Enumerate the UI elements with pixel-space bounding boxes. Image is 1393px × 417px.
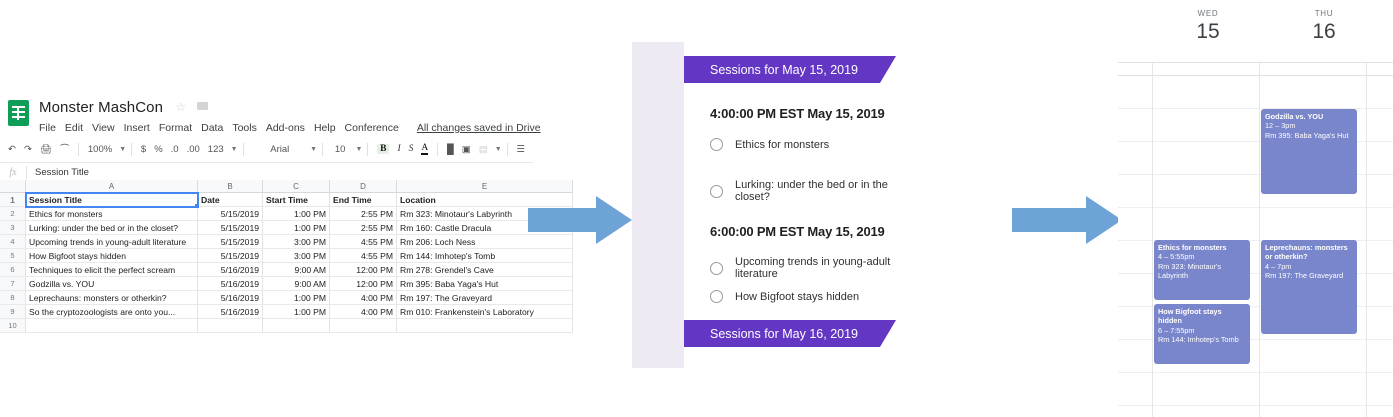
cell-start[interactable]: 3:00 PM [263, 249, 330, 263]
menu-bar: File Edit View Insert Format Data Tools … [39, 122, 550, 134]
horizontal-align-icon[interactable]: ☰ [516, 144, 525, 155]
google-calendar-panel: WED 15 THU 16 Godzilla vs. YOU 12 – 3pm … [1118, 0, 1393, 417]
sheets-toolbar: ↶ ↷ 🖨 ⏜ 100% ▼ $ % .0 .00 123 ▼ Arial ▼ … [4, 138, 529, 160]
calendar-event-godzilla[interactable]: Godzilla vs. YOU 12 – 3pm Rm 395: Baba Y… [1261, 109, 1357, 194]
zoom-level[interactable]: 100% [88, 144, 112, 155]
document-title-row: Monster MashCon ☆ [39, 98, 550, 117]
increase-decimal-button[interactable]: .00 [187, 144, 200, 155]
row-number[interactable]: 5 [0, 249, 26, 263]
cell-date[interactable]: 5/16/2019 [198, 277, 263, 291]
event-location: Rm 323: Minotaur's Labyrinth [1158, 262, 1246, 281]
table-row: 2 Ethics for monsters 5/15/2019 1:00 PM … [0, 207, 573, 221]
fill-color-icon[interactable]: █ [447, 144, 454, 155]
menu-item-data[interactable]: Data [201, 122, 223, 134]
cell-title[interactable]: Lurking: under the bed or in the closet? [26, 221, 198, 235]
cell-date[interactable]: 5/15/2019 [198, 221, 263, 235]
star-icon[interactable]: ☆ [176, 100, 187, 114]
day-number-label: 15 [1160, 20, 1256, 44]
form-body: Sessions for May 15, 2019 4:00:00 PM EST… [684, 42, 922, 368]
cell-date[interactable]: 5/16/2019 [198, 291, 263, 305]
corner-select-all[interactable] [0, 180, 26, 193]
calendar-hour-line [1118, 207, 1393, 208]
zoom-chevron-down-icon[interactable]: ▼ [119, 146, 126, 153]
table-row: 8 Leprechauns: monsters or otherkin? 5/1… [0, 291, 573, 305]
cell-title[interactable]: Upcoming trends in young-adult literatur… [26, 235, 198, 249]
cell-location[interactable]: Rm 010: Frankenstein's Laboratory [397, 305, 573, 319]
radio-button-icon[interactable] [710, 185, 723, 198]
text-color-button[interactable]: A [421, 143, 428, 155]
event-time: 6 – 7:55pm [1158, 326, 1246, 335]
banner-label: Sessions for May 16, 2019 [710, 327, 858, 341]
cell-start[interactable]: 9:00 AM [263, 263, 330, 277]
toolbar-divider [367, 143, 368, 156]
menu-item-edit[interactable]: Edit [65, 122, 83, 134]
menu-item-format[interactable]: Format [159, 122, 192, 134]
flow-arrow-2 [1012, 196, 1122, 244]
event-time: 12 – 3pm [1265, 121, 1353, 130]
row-number[interactable]: 7 [0, 277, 26, 291]
cell-d1[interactable]: End Time [330, 193, 397, 207]
toolbar-divider [507, 143, 508, 156]
strikethrough-button[interactable]: S [409, 144, 414, 154]
form-section-banner-may-15: Sessions for May 15, 2019 [684, 56, 880, 83]
table-row: 3 Lurking: under the bed or in the close… [0, 221, 573, 235]
calendar-column-divider [1259, 62, 1260, 417]
event-title: Godzilla vs. YOU [1265, 112, 1353, 121]
row-number[interactable]: 1 [0, 193, 26, 207]
merge-cells-icon[interactable]: ▤ [479, 144, 488, 155]
form-option-4[interactable]: How Bigfoot stays hidden [710, 290, 859, 303]
undo-icon[interactable]: ↶ [8, 144, 16, 155]
day-of-week-label: THU [1276, 9, 1372, 18]
calendar-event-bigfoot[interactable]: How Bigfoot stays hidden 6 – 7:55pm Rm 1… [1154, 304, 1250, 364]
google-sheets-icon [8, 100, 29, 126]
cell-date[interactable]: 5/16/2019 [198, 263, 263, 277]
cell-a1[interactable]: Session Title [26, 193, 198, 207]
event-title: How Bigfoot stays hidden [1158, 307, 1246, 326]
menu-item-tools[interactable]: Tools [232, 122, 257, 134]
calendar-column-divider [1152, 62, 1153, 417]
italic-button[interactable]: I [397, 144, 400, 154]
column-header-c[interactable]: C [263, 180, 330, 193]
redo-icon[interactable]: ↷ [24, 144, 32, 155]
cell-start[interactable]: 1:00 PM [263, 207, 330, 221]
cell-date[interactable]: 5/16/2019 [198, 305, 263, 319]
table-row: 5 How Bigfoot stays hidden 5/15/2019 3:0… [0, 249, 573, 263]
form-side-strip [632, 42, 684, 368]
calendar-day-wed[interactable]: WED 15 [1160, 9, 1256, 44]
menu-item-view[interactable]: View [92, 122, 115, 134]
form-option-3[interactable]: Upcoming trends in young-adult literatur… [710, 256, 922, 280]
percent-format-button[interactable]: % [154, 144, 162, 155]
cell-date[interactable] [198, 319, 263, 333]
radio-button-icon[interactable] [710, 138, 723, 151]
column-header-row: A B C D E [0, 180, 573, 193]
cell-end[interactable]: 4:00 PM [330, 291, 397, 305]
cell-end[interactable]: 12:00 PM [330, 263, 397, 277]
cell-date[interactable]: 5/15/2019 [198, 207, 263, 221]
cell-location[interactable]: Rm 144: Imhotep's Tomb [397, 249, 573, 263]
cell-title[interactable]: How Bigfoot stays hidden [26, 249, 198, 263]
folder-icon[interactable] [197, 102, 208, 110]
cell-location[interactable] [397, 319, 573, 333]
table-row: 7 Godzilla vs. YOU 5/16/2019 9:00 AM 12:… [0, 277, 573, 291]
cell-end[interactable]: 2:55 PM [330, 207, 397, 221]
toolbar-divider [437, 143, 438, 156]
table-row: 10 [0, 319, 573, 333]
form-option-label: Ethics for monsters [735, 139, 829, 151]
column-header-d[interactable]: D [330, 180, 397, 193]
radio-button-icon[interactable] [710, 262, 723, 275]
row-number[interactable]: 9 [0, 305, 26, 319]
cell-title[interactable]: Ethics for monsters [26, 207, 198, 221]
cell-start[interactable]: 9:00 AM [263, 277, 330, 291]
form-option-label: How Bigfoot stays hidden [735, 291, 859, 303]
cell-location[interactable]: Rm 278: Grendel's Cave [397, 263, 573, 277]
calendar-event-ethics[interactable]: Ethics for monsters 4 – 5:55pm Rm 323: M… [1154, 240, 1250, 300]
cell-title[interactable]: So the cryptozoologists are onto you... [26, 305, 198, 319]
event-time: 4 – 5:55pm [1158, 252, 1246, 261]
cell-title[interactable]: Leprechauns: monsters or otherkin? [26, 291, 198, 305]
column-header-e[interactable]: E [397, 180, 573, 193]
calendar-column-divider [1366, 62, 1367, 417]
event-location: Rm 395: Baba Yaga's Hut [1265, 131, 1353, 140]
form-option-label: Upcoming trends in young-adult literatur… [735, 256, 922, 280]
bold-button[interactable]: B [377, 144, 389, 154]
title-icons: ☆ [176, 98, 208, 116]
calendar-hour-line [1118, 405, 1393, 406]
formula-input[interactable]: Session Title [27, 167, 89, 178]
google-form-panel: Sessions for May 15, 2019 4:00:00 PM EST… [632, 42, 922, 368]
form-option-1[interactable]: Ethics for monsters [710, 138, 829, 151]
google-sheets-panel: Monster MashCon ☆ File Edit View Insert … [0, 94, 533, 320]
form-question-time-1: 4:00:00 PM EST May 15, 2019 [710, 106, 885, 121]
print-icon[interactable]: 🖨 [40, 144, 52, 155]
day-of-week-label: WED [1160, 9, 1256, 18]
column-header-a[interactable]: A [26, 180, 198, 193]
cell-end[interactable] [330, 319, 397, 333]
event-location: Rm 197: The Graveyard [1265, 271, 1353, 280]
cell-start[interactable]: 1:00 PM [263, 221, 330, 235]
cell-b1[interactable]: Date [198, 193, 263, 207]
form-option-2[interactable]: Lurking: under the bed or in the closet? [710, 179, 922, 203]
day-number-label: 16 [1276, 20, 1372, 44]
row-number[interactable]: 3 [0, 221, 26, 235]
paint-format-icon[interactable]: ⏜ [60, 144, 69, 155]
save-status-link[interactable]: All changes saved in Drive [417, 122, 541, 134]
cell-location[interactable]: Rm 395: Baba Yaga's Hut [397, 277, 573, 291]
menu-item-insert[interactable]: Insert [124, 122, 150, 134]
more-formats-button[interactable]: 123 [208, 144, 224, 155]
table-row: 4 Upcoming trends in young-adult literat… [0, 235, 573, 249]
cell-title[interactable] [26, 319, 198, 333]
banner-label: Sessions for May 15, 2019 [710, 63, 858, 77]
cell-date[interactable]: 5/15/2019 [198, 235, 263, 249]
column-header-b[interactable]: B [198, 180, 263, 193]
row-number[interactable]: 4 [0, 235, 26, 249]
calendar-day-header: WED 15 THU 16 [1118, 0, 1393, 63]
flow-arrow-1 [528, 196, 632, 244]
font-size-select[interactable]: 10 [332, 144, 349, 155]
menu-item-file[interactable]: File [39, 122, 56, 134]
table-row: 6 Techniques to elicit the perfect screa… [0, 263, 573, 277]
font-size-chevron-down-icon[interactable]: ▼ [355, 146, 362, 153]
formats-chevron-down-icon[interactable]: ▼ [231, 146, 238, 153]
table-row: 1 Session Title Date Start Time End Time… [0, 193, 573, 207]
row-number[interactable]: 10 [0, 319, 26, 333]
cell-end[interactable]: 4:00 PM [330, 305, 397, 319]
merge-chevron-down-icon[interactable]: ▼ [495, 146, 502, 153]
cell-end[interactable]: 12:00 PM [330, 277, 397, 291]
event-location: Rm 144: Imhotep's Tomb [1158, 335, 1246, 344]
font-family-select[interactable]: Arial [252, 144, 303, 155]
form-question-time-2: 6:00:00 PM EST May 15, 2019 [710, 224, 885, 239]
calendar-event-leprechauns[interactable]: Leprechauns: monsters or otherkin? 4 – 7… [1261, 240, 1357, 334]
cell-end[interactable]: 4:55 PM [330, 235, 397, 249]
menu-item-addons[interactable]: Add-ons [266, 122, 305, 134]
cell-end[interactable]: 4:55 PM [330, 249, 397, 263]
currency-format-button[interactable]: $ [141, 144, 146, 155]
cell-end[interactable]: 2:55 PM [330, 221, 397, 235]
cell-c1[interactable]: Start Time [263, 193, 330, 207]
cell-title[interactable]: Techniques to elicit the perfect scream [26, 263, 198, 277]
cell-location[interactable]: Rm 197: The Graveyard [397, 291, 573, 305]
radio-button-icon[interactable] [710, 290, 723, 303]
toolbar-divider [131, 143, 132, 156]
cell-title[interactable]: Godzilla vs. YOU [26, 277, 198, 291]
decrease-decimal-button[interactable]: .0 [171, 144, 179, 155]
calendar-day-thu[interactable]: THU 16 [1276, 9, 1372, 44]
cell-start[interactable]: 1:00 PM [263, 291, 330, 305]
document-title[interactable]: Monster MashCon [39, 99, 163, 116]
menu-item-help[interactable]: Help [314, 122, 336, 134]
menu-item-conference[interactable]: Conference [345, 122, 399, 134]
toolbar-divider [322, 143, 323, 156]
fx-icon: fx [0, 167, 26, 178]
row-number[interactable]: 6 [0, 263, 26, 277]
toolbar-divider [243, 143, 244, 156]
form-option-label: Lurking: under the bed or in the closet? [735, 179, 922, 203]
cell-date[interactable]: 5/15/2019 [198, 249, 263, 263]
row-number[interactable]: 2 [0, 207, 26, 221]
event-time: 4 – 7pm [1265, 262, 1353, 271]
row-number[interactable]: 8 [0, 291, 26, 305]
borders-icon[interactable]: ▣ [462, 144, 471, 155]
cell-start[interactable]: 1:00 PM [263, 305, 330, 319]
event-title: Ethics for monsters [1158, 243, 1246, 252]
calendar-hour-line [1118, 75, 1393, 76]
font-chevron-down-icon[interactable]: ▼ [310, 146, 317, 153]
sheets-title-area: Monster MashCon ☆ File Edit View Insert … [8, 98, 550, 134]
form-section-banner-may-16: Sessions for May 16, 2019 [684, 320, 880, 347]
spreadsheet-grid[interactable]: A B C D E 1 Session Title Date Start Tim… [0, 180, 533, 333]
cell-start[interactable]: 3:00 PM [263, 235, 330, 249]
formula-bar: fx Session Title [0, 162, 533, 182]
event-title: Leprechauns: monsters or otherkin? [1265, 243, 1353, 262]
cell-start[interactable] [263, 319, 330, 333]
table-row: 9 So the cryptozoologists are onto you..… [0, 305, 573, 319]
calendar-hour-line [1118, 372, 1393, 373]
toolbar-divider [78, 143, 79, 156]
